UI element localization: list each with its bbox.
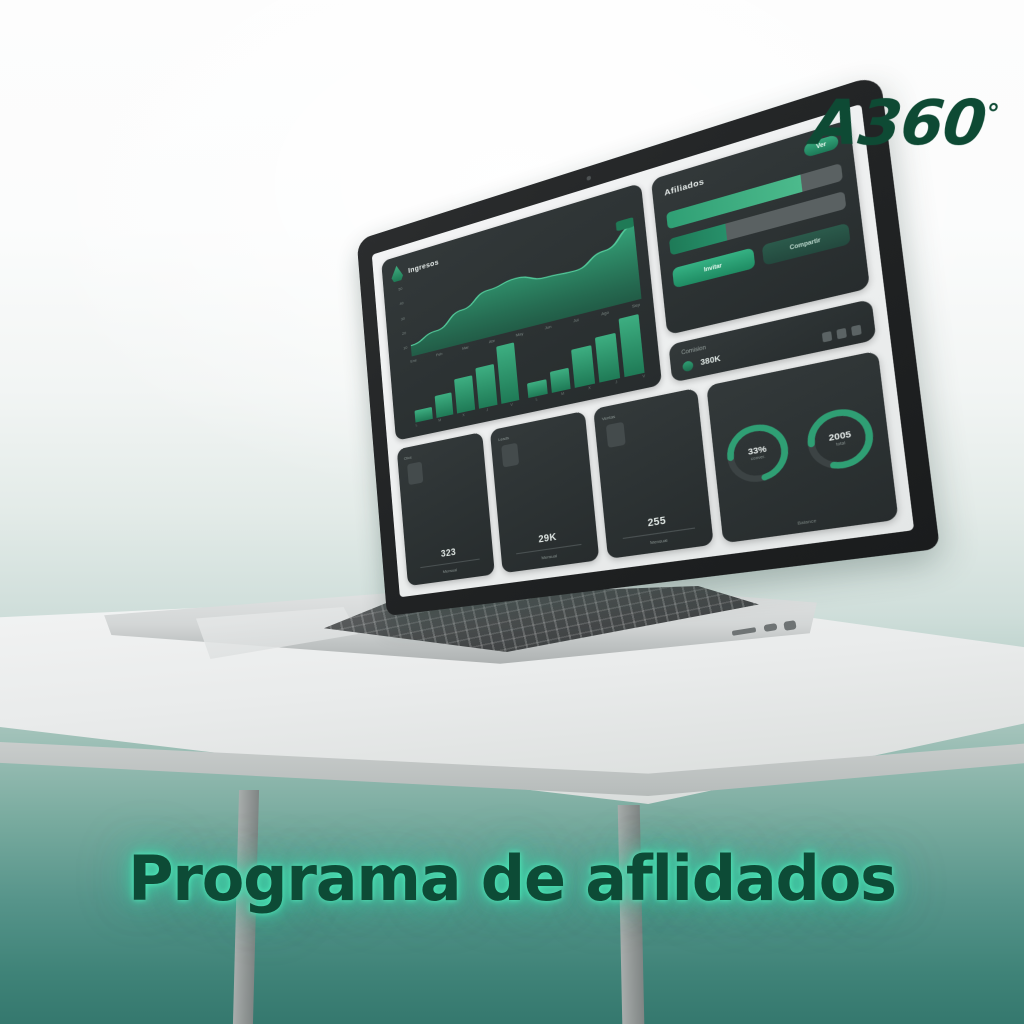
headline: Programa de aflidados — [0, 842, 1024, 915]
bar-tick: X — [462, 413, 465, 418]
invite-button[interactable]: Invitar — [672, 248, 755, 289]
divider — [516, 544, 581, 554]
bar-tick: L — [416, 423, 418, 427]
x-tick: Ene — [410, 357, 417, 363]
card-icon — [502, 443, 520, 468]
stat-caption: Mensual — [650, 537, 668, 545]
x-tick: Feb — [436, 351, 443, 358]
bar — [572, 345, 596, 388]
stat-label: Clics — [404, 455, 412, 461]
stat-card-ventas[interactable]: Ventas 255 Mensual — [593, 388, 714, 559]
donut-chart-total: 2005 total — [801, 399, 881, 476]
bar — [496, 342, 520, 404]
thunderbolt-port-icon — [783, 620, 796, 631]
bar — [595, 333, 620, 383]
bar-tick: M — [438, 418, 441, 423]
card-icon — [407, 462, 423, 486]
brand-logo-text: A360 — [808, 86, 989, 159]
bar — [475, 364, 497, 409]
square-icon[interactable] — [822, 330, 832, 341]
stat-value: 29K — [538, 531, 557, 544]
commission-icons — [822, 324, 862, 342]
poster-canvas: Ingresos 50 40 30 20 10 — [0, 0, 1024, 1024]
stat-value: 255 — [647, 515, 666, 529]
y-tick: 30 — [395, 315, 405, 322]
progress-fill — [669, 224, 727, 256]
x-tick: Abr — [489, 338, 496, 345]
donut-caption: total — [836, 441, 846, 448]
commission-value: 380K — [700, 355, 721, 367]
x-tick: Sep — [632, 301, 640, 308]
stat-card-leads[interactable]: Leads 29K Mensual — [490, 411, 599, 573]
square-icon[interactable] — [851, 324, 862, 336]
stat-caption: Mensual — [541, 553, 557, 561]
laptop-ports — [732, 620, 812, 642]
square-icon[interactable] — [836, 327, 846, 339]
bar-tick: V — [642, 374, 645, 379]
bar-tick: L — [536, 397, 538, 402]
sdcard-port-icon — [732, 627, 756, 636]
usb-port-icon — [764, 623, 778, 632]
laptop: Ingresos 50 40 30 20 10 — [92, 226, 882, 686]
status-dot-icon — [682, 360, 694, 372]
stat-caption: Mensual — [443, 567, 458, 574]
chart-card-title: Ingresos — [408, 257, 439, 275]
bar-tick: J — [615, 380, 617, 385]
stat-card-clics[interactable]: Clics 323 Mensual — [397, 432, 496, 586]
laptop-screen: Ingresos 50 40 30 20 10 — [372, 104, 914, 597]
stat-label: Leads — [498, 435, 509, 442]
bar-tick: M — [561, 391, 564, 396]
x-tick: Ago — [601, 309, 609, 316]
donut-center-label: 33% conver. — [721, 415, 795, 489]
donut-caption: conver. — [751, 454, 766, 462]
bar — [618, 314, 645, 377]
card-icon — [606, 422, 626, 448]
bar-tick: J — [486, 408, 488, 412]
bar-tick: X — [588, 386, 591, 391]
gauges-card: 33% conver. 2005 — [707, 351, 899, 544]
degree-icon: ° — [985, 99, 1000, 129]
stat-label: Ventas — [602, 413, 616, 421]
brand-logo: A360° — [808, 86, 1001, 159]
y-tick: 50 — [392, 286, 402, 294]
gauges-footer: Balance — [797, 517, 817, 526]
share-button[interactable]: Compartir — [761, 223, 850, 266]
bar-tick: V — [510, 402, 513, 407]
x-tick: Jun — [544, 324, 551, 331]
y-tick: 20 — [396, 330, 406, 337]
stat-value: 323 — [440, 547, 456, 559]
affiliates-panel-title: Afiliados — [664, 176, 705, 198]
x-tick: Jul — [573, 317, 579, 324]
donut-center-label: 2005 total — [801, 399, 881, 476]
divider — [420, 559, 479, 569]
gauge-row: 33% conver. 2005 — [717, 362, 885, 524]
x-tick: May — [516, 331, 524, 338]
progress-remainder — [800, 163, 843, 192]
bar — [454, 375, 475, 413]
triangle-logo-icon — [391, 264, 404, 283]
y-tick: 40 — [394, 300, 404, 308]
dashboard-side-column: Afiliados Ver — [651, 120, 876, 383]
donut-chart-conversion: 33% conver. — [721, 415, 795, 489]
x-tick: Mar — [462, 344, 469, 351]
y-tick: 10 — [397, 345, 407, 352]
